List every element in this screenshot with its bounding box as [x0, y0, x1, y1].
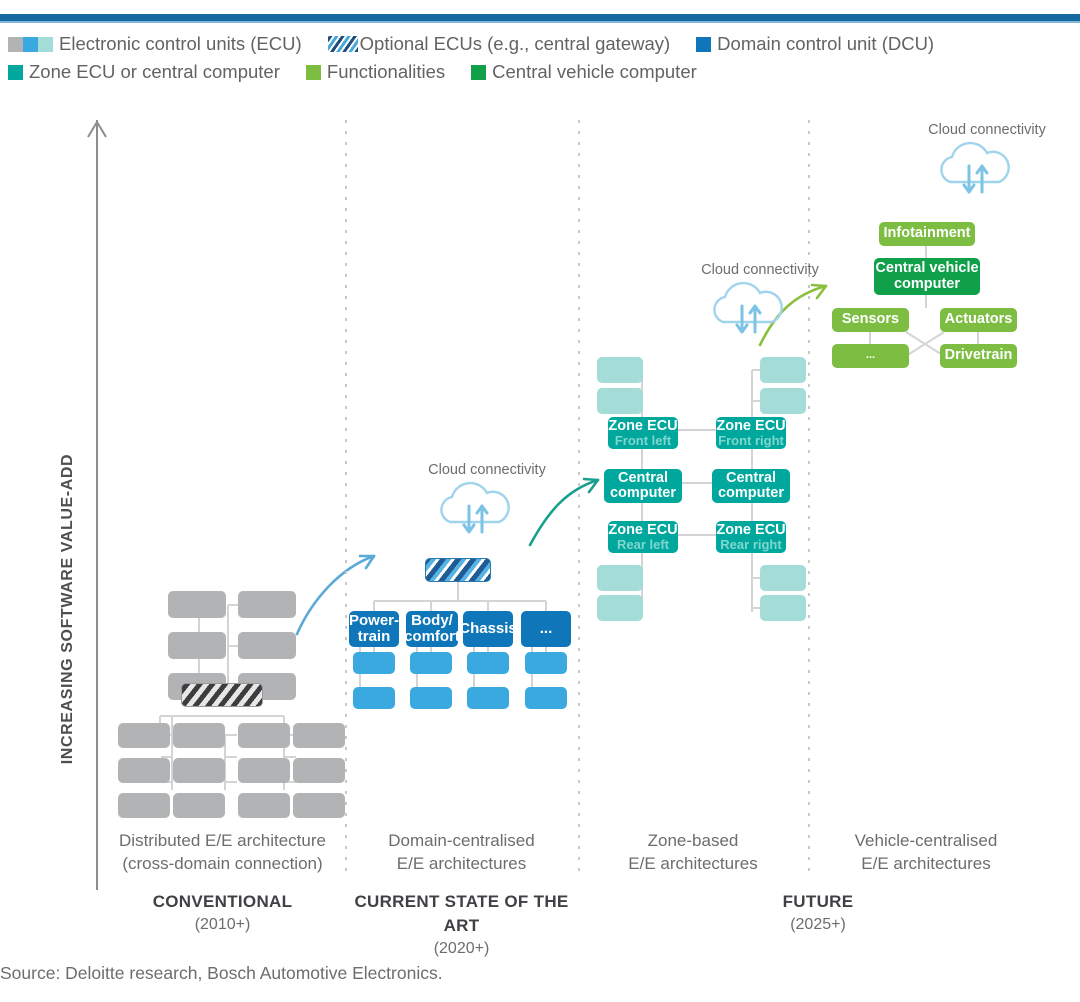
cloud-icon: [685, 278, 835, 340]
era-current: CURRENT STATE OF THE ART (2020+): [345, 890, 578, 960]
central-vehicle-computer: Central vehicle computer: [874, 258, 980, 295]
ecu-box: [467, 687, 509, 709]
zone-ecu-subtitle: Front right: [718, 434, 784, 448]
cloud-connectivity-3: Cloud connectivity: [685, 262, 835, 345]
legend-item-zone-ecu: Zone ECU or central computer: [8, 61, 280, 83]
ecu-box: [293, 758, 345, 783]
column-caption-domain: Domain-centralised E/E architectures: [345, 830, 578, 876]
ecu-box: [173, 793, 225, 818]
zone-ecu-subtitle: Front left: [615, 434, 671, 448]
functionality-label: ...: [866, 350, 875, 362]
ecu-box: [173, 723, 225, 748]
legend-row-2: Zone ECU or central computer Functionali…: [8, 58, 1072, 86]
caption-line-2: E/E architectures: [345, 853, 578, 876]
legend-label-central-vehicle-computer: Central vehicle computer: [492, 61, 697, 83]
functionality-more: ...: [832, 344, 909, 368]
ecu-box: [238, 632, 296, 659]
dcu-label-line2: comfort: [404, 629, 460, 645]
ecu-box: [293, 793, 345, 818]
zone-ecu-front-right: Zone ECU Front right: [716, 417, 786, 449]
caption-line-1: Distributed E/E architecture: [100, 830, 345, 853]
zone-ecu-title: Zone ECU: [716, 419, 785, 434]
functionality-label: Infotainment: [884, 226, 971, 241]
era-name: CURRENT STATE OF THE ART: [345, 890, 578, 938]
ecu-box: [410, 687, 452, 709]
ecu-box: [173, 758, 225, 783]
ecu-box: [238, 758, 290, 783]
central-vehicle-computer-line2: computer: [894, 277, 960, 292]
ecu-box: [118, 793, 170, 818]
ecu-box: [410, 652, 452, 674]
column-caption-zone: Zone-based E/E architectures: [578, 830, 808, 876]
functionality-sensors: Sensors: [832, 308, 909, 332]
central-computer-line2: computer: [610, 486, 676, 501]
zone-ecu-title: Zone ECU: [608, 419, 677, 434]
ecu-box: [118, 758, 170, 783]
optional-ecu-gateway-box: [181, 683, 263, 707]
y-axis-label: INCREASING SOFTWARE VALUE-ADD: [59, 409, 77, 809]
ecu-box: [597, 595, 643, 621]
era-name: CONVENTIONAL: [100, 890, 345, 914]
ecu-box: [353, 652, 395, 674]
column-separator-1: [345, 120, 347, 875]
caption-line-2: E/E architectures: [808, 853, 1044, 876]
legend-label-zone-ecu: Zone ECU or central computer: [29, 61, 280, 83]
era-year: (2010+): [100, 914, 345, 936]
legend-row-1: Electronic control units (ECU) Optional …: [8, 30, 1072, 58]
era-year: (2020+): [345, 938, 578, 960]
caption-line-1: Domain-centralised: [345, 830, 578, 853]
legend-item-functionalities: Functionalities: [306, 61, 445, 83]
central-vehicle-computer-line1: Central vehicle: [875, 261, 978, 276]
legend: Electronic control units (ECU) Optional …: [8, 30, 1072, 86]
dcu-body-comfort: Body/ comfort: [406, 611, 458, 647]
ecu-box: [597, 357, 643, 383]
swatch-functionalities-icon: [306, 65, 321, 80]
swatch-dcu-icon: [696, 37, 711, 52]
zone-ecu-front-left: Zone ECU Front left: [608, 417, 678, 449]
swatch-ecu-multi-icon: [8, 37, 53, 52]
swatch-zone-ecu-icon: [8, 65, 23, 80]
ecu-box: [238, 591, 296, 618]
ecu-box: [760, 388, 806, 414]
cloud-icon: [412, 478, 562, 540]
legend-item-optional-ecu: Optional ECUs (e.g., central gateway): [328, 33, 671, 55]
functionality-infotainment: Infotainment: [879, 222, 975, 246]
cloud-connectivity-4: Cloud connectivity: [912, 122, 1062, 205]
dcu-powertrain: Power- train: [349, 611, 399, 647]
swatch-central-vehicle-computer-icon: [471, 65, 486, 80]
cloud-icon: [912, 138, 1062, 200]
legend-item-dcu: Domain control unit (DCU): [696, 33, 934, 55]
dcu-label-line1: Body/: [411, 613, 453, 629]
functionality-label: Sensors: [842, 312, 899, 327]
era-year: (2025+): [700, 914, 936, 936]
zone-ecu-subtitle: Rear left: [617, 538, 669, 552]
functionality-drivetrain: Drivetrain: [940, 344, 1017, 368]
dcu-label-line2: train: [358, 629, 391, 645]
ecu-box: [760, 565, 806, 591]
era-name: FUTURE: [700, 890, 936, 914]
caption-line-2: E/E architectures: [578, 853, 808, 876]
ecu-box: [597, 388, 643, 414]
legend-item-ecu: Electronic control units (ECU): [8, 33, 302, 55]
ecu-box: [168, 632, 226, 659]
ecu-box: [525, 687, 567, 709]
column-caption-vehicle: Vehicle-centralised E/E architectures: [808, 830, 1044, 876]
cloud-connectivity-label: Cloud connectivity: [912, 122, 1062, 138]
caption-line-1: Zone-based: [578, 830, 808, 853]
legend-label-ecu: Electronic control units (ECU): [59, 33, 302, 55]
legend-item-central-vehicle-computer: Central vehicle computer: [471, 61, 697, 83]
ecu-box: [597, 565, 643, 591]
central-computer-right: Central computer: [712, 469, 790, 503]
ecu-box: [118, 723, 170, 748]
central-computer-line1: Central: [726, 471, 776, 486]
central-computer-line2: computer: [718, 486, 784, 501]
central-computer-line1: Central: [618, 471, 668, 486]
era-conventional: CONVENTIONAL (2010+): [100, 890, 345, 936]
functionality-actuators: Actuators: [940, 308, 1017, 332]
zone-ecu-rear-left: Zone ECU Rear left: [608, 521, 678, 553]
ecu-box: [353, 687, 395, 709]
column-separator-3: [808, 120, 810, 875]
functionality-label: Actuators: [945, 312, 1013, 327]
dcu-more: ...: [521, 611, 571, 647]
optional-ecu-gateway-box: [425, 558, 491, 582]
cloud-connectivity-2: Cloud connectivity: [412, 462, 562, 545]
legend-label-functionalities: Functionalities: [327, 61, 445, 83]
dcu-chassis: Chassis: [463, 611, 513, 647]
source-note: Source: Deloitte research, Bosch Automot…: [0, 963, 443, 984]
column-separator-2: [578, 120, 580, 875]
ecu-box: [168, 591, 226, 618]
legend-label-optional-ecu: Optional ECUs (e.g., central gateway): [360, 33, 671, 55]
ecu-box: [238, 793, 290, 818]
zone-ecu-title: Zone ECU: [716, 523, 785, 538]
zone-ecu-rear-right: Zone ECU Rear right: [716, 521, 786, 553]
column-caption-conventional: Distributed E/E architecture (cross-doma…: [100, 830, 345, 876]
header-rule: [0, 14, 1080, 21]
ecu-box: [760, 595, 806, 621]
cloud-connectivity-label: Cloud connectivity: [685, 262, 835, 278]
ecu-box: [238, 723, 290, 748]
caption-line-1: Vehicle-centralised: [808, 830, 1044, 853]
functionality-label: Drivetrain: [945, 348, 1013, 363]
ecu-box: [760, 357, 806, 383]
dcu-label: ...: [540, 621, 553, 637]
zone-ecu-title: Zone ECU: [608, 523, 677, 538]
dcu-label: Chassis: [459, 621, 517, 637]
caption-line-2: (cross-domain connection): [100, 853, 345, 876]
header-rule-light: [0, 21, 1080, 23]
ecu-box: [293, 723, 345, 748]
dcu-label-line1: Power-: [349, 613, 399, 629]
cloud-connectivity-label: Cloud connectivity: [412, 462, 562, 478]
swatch-optional-ecu-hatched-icon: [328, 36, 358, 52]
ecu-box: [525, 652, 567, 674]
legend-label-dcu: Domain control unit (DCU): [717, 33, 934, 55]
central-computer-left: Central computer: [604, 469, 682, 503]
zone-ecu-subtitle: Rear right: [720, 538, 781, 552]
ecu-box: [467, 652, 509, 674]
y-axis-line: [96, 120, 98, 890]
era-future: FUTURE (2025+): [700, 890, 936, 936]
